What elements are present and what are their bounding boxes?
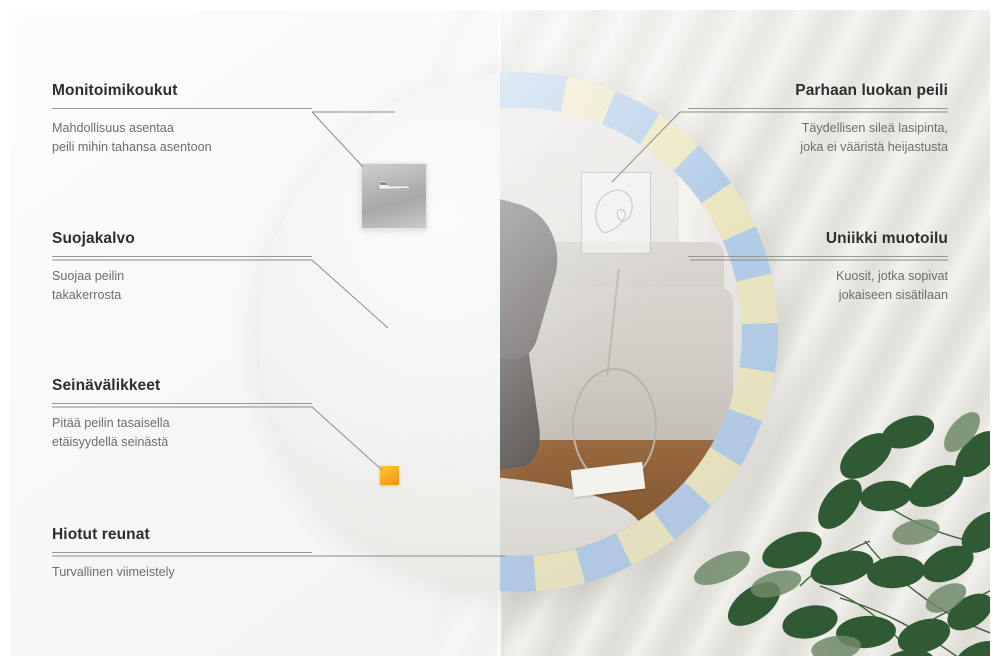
feature-wall-spacers-title: Seinävälikkeet: [52, 377, 312, 396]
feature-protective-film-desc: Suojaa peilin takakerrosta: [52, 267, 312, 306]
feature-hooks-desc: Mahdollisuus asentaa peili mihin tahansa…: [52, 119, 312, 158]
feature-polished-edges-desc: Turvallinen viimeistely: [52, 563, 312, 583]
feature-polished-edges-title: Hiotut reunat: [52, 526, 312, 545]
feature-premium-glass-rule: [688, 108, 948, 109]
infographic-canvas: Monitoimikoukut Mahdollisuus asentaa pei…: [0, 0, 1000, 666]
feature-hooks: Monitoimikoukut Mahdollisuus asentaa pei…: [52, 82, 312, 158]
feature-polished-edges-rule: [52, 552, 312, 553]
feature-unique-design: Uniikki muotoilu Kuosit, jotka sopivat j…: [688, 230, 948, 306]
feature-premium-glass-desc: Täydellisen sileä lasipinta, joka ei vää…: [688, 119, 948, 158]
feature-unique-design-desc: Kuosit, jotka sopivat jokaiseen sisätila…: [688, 267, 948, 306]
feature-premium-glass-title: Parhaan luokan peili: [688, 82, 948, 101]
wall-spacer-block: [380, 466, 399, 485]
decorative-foliage: [670, 336, 1000, 666]
feature-premium-glass: Parhaan luokan peili Täydellisen sileä l…: [688, 82, 948, 158]
reflected-line-art-frame: [581, 172, 651, 254]
feature-polished-edges: Hiotut reunat Turvallinen viimeistely: [52, 526, 312, 582]
feature-wall-spacers: Seinävälikkeet Pitää peilin tasaisella e…: [52, 377, 312, 453]
feature-hooks-rule: [52, 108, 312, 109]
mounting-hook-plate: [361, 163, 427, 229]
line-art-face-icon: [588, 181, 646, 247]
wall-hook-icon: [378, 180, 412, 191]
feature-unique-design-title: Uniikki muotoilu: [688, 230, 948, 249]
feature-protective-film-title: Suojakalvo: [52, 230, 312, 249]
feature-protective-film-rule: [52, 256, 312, 257]
feature-wall-spacers-rule: [52, 403, 312, 404]
feature-wall-spacers-desc: Pitää peilin tasaisella etäisyydellä sei…: [52, 414, 312, 453]
feature-protective-film: Suojakalvo Suojaa peilin takakerrosta: [52, 230, 312, 306]
feature-hooks-title: Monitoimikoukut: [52, 82, 312, 101]
feature-unique-design-rule: [688, 256, 948, 257]
